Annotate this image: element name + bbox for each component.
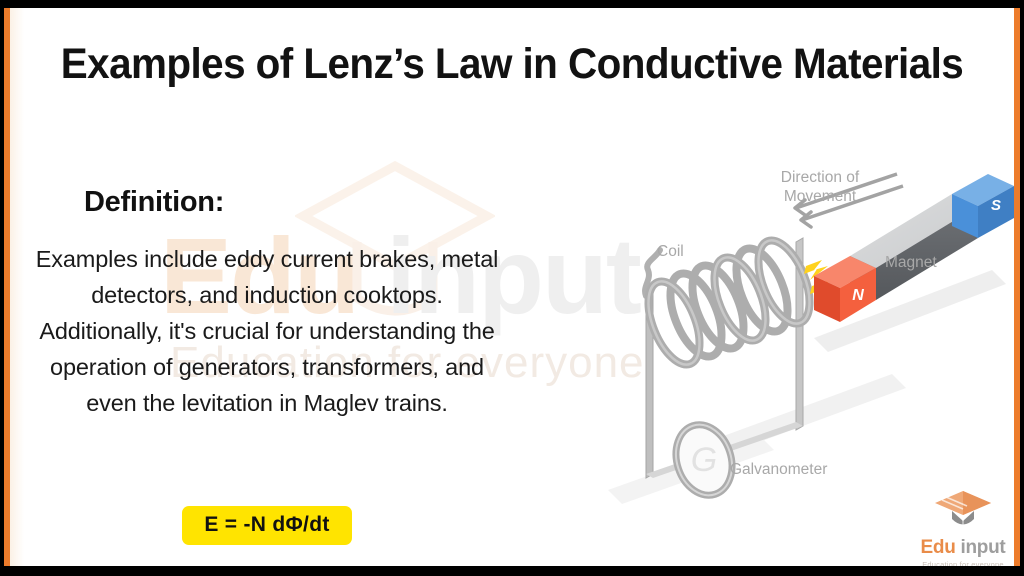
label-direction-line2: Movement — [784, 188, 856, 205]
label-magnet: Magnet — [885, 253, 937, 272]
bottom-black-bar — [0, 566, 1024, 576]
logo-tagline: Education for everyone — [910, 560, 1014, 566]
definition-body: Examples include eddy current brakes, me… — [32, 241, 502, 421]
definition-heading: Definition: — [32, 186, 502, 219]
page-title: Examples of Lenz’s Law in Conductive Mat… — [40, 40, 984, 89]
label-coil: Coil — [657, 242, 684, 261]
logo-wordmark: Edu input — [910, 537, 1014, 559]
galvanometer-symbol: G — [691, 441, 717, 479]
graduation-cap-icon — [932, 488, 994, 536]
slide-canvas: Edu input Education for everyone Example… — [10, 8, 1014, 566]
lenz-law-diagram: G — [600, 138, 1014, 518]
magnet-south-label: S — [991, 197, 1001, 214]
logo-word-input: input — [956, 537, 1006, 558]
right-orange-bar — [1014, 8, 1020, 566]
formula-badge: E = -N dΦ/dt — [182, 506, 351, 545]
logo-word-edu: Edu — [921, 537, 956, 558]
magnet-north-label: N — [852, 287, 864, 304]
label-direction-line1: Direction of — [781, 169, 859, 186]
label-direction-of-movement: Direction of Movement — [760, 168, 880, 206]
formula-row: E = -N dΦ/dt — [32, 506, 502, 545]
label-galvanometer: Galvanometer — [730, 460, 827, 479]
slide-root: Edu input Education for everyone Example… — [0, 0, 1024, 576]
definition-block: Definition: Examples include eddy curren… — [32, 186, 502, 421]
brand-logo: Edu input Education for everyone — [910, 488, 1014, 566]
top-black-bar — [0, 0, 1024, 8]
